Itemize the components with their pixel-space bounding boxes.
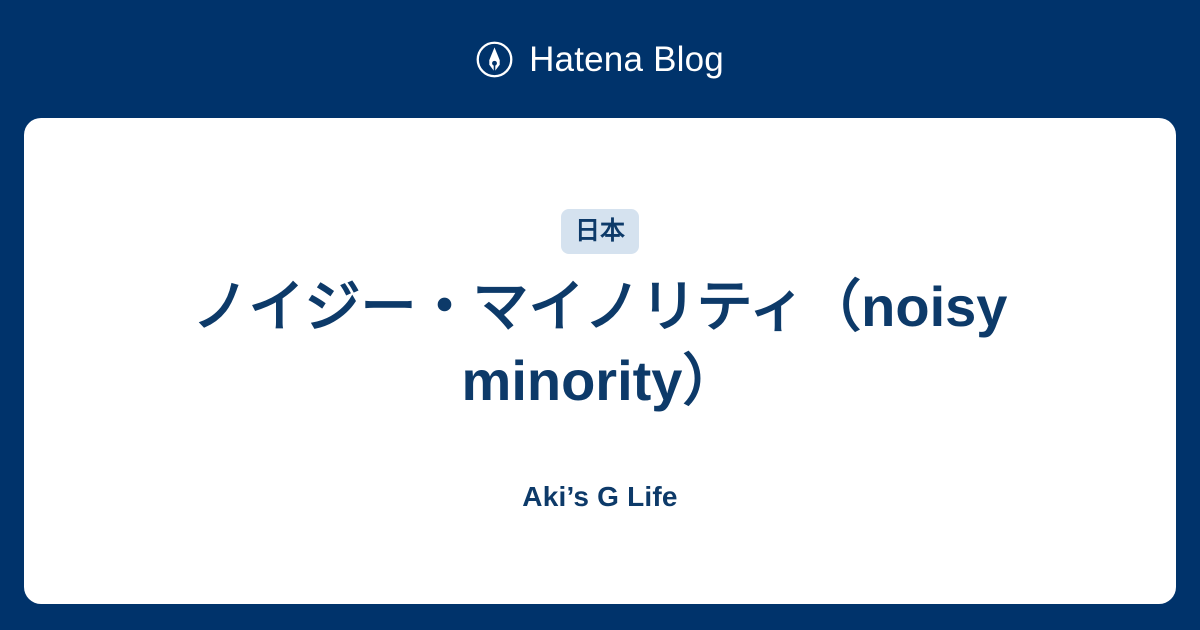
entry-card: 日本 ノイジー・マイノリティ（noisy minority） Aki’s G L… [24,118,1176,604]
blog-name-label: Aki’s G Life [522,480,677,514]
entry-title: ノイジー・マイノリティ（noisy minority） [160,270,1040,418]
entry-card-content: 日本 ノイジー・マイノリティ（noisy minority） Aki’s G L… [94,209,1106,513]
hatena-blog-brand: Hatena Blog [476,0,724,118]
og-image-canvas: Hatena Blog 日本 ノイジー・マイノリティ（noisy minorit… [0,0,1200,630]
category-badge: 日本 [561,209,639,254]
brand-name-label: Hatena Blog [529,42,724,77]
fountain-pen-nib-icon [476,41,513,78]
category-badge-row: 日本 [561,209,639,254]
